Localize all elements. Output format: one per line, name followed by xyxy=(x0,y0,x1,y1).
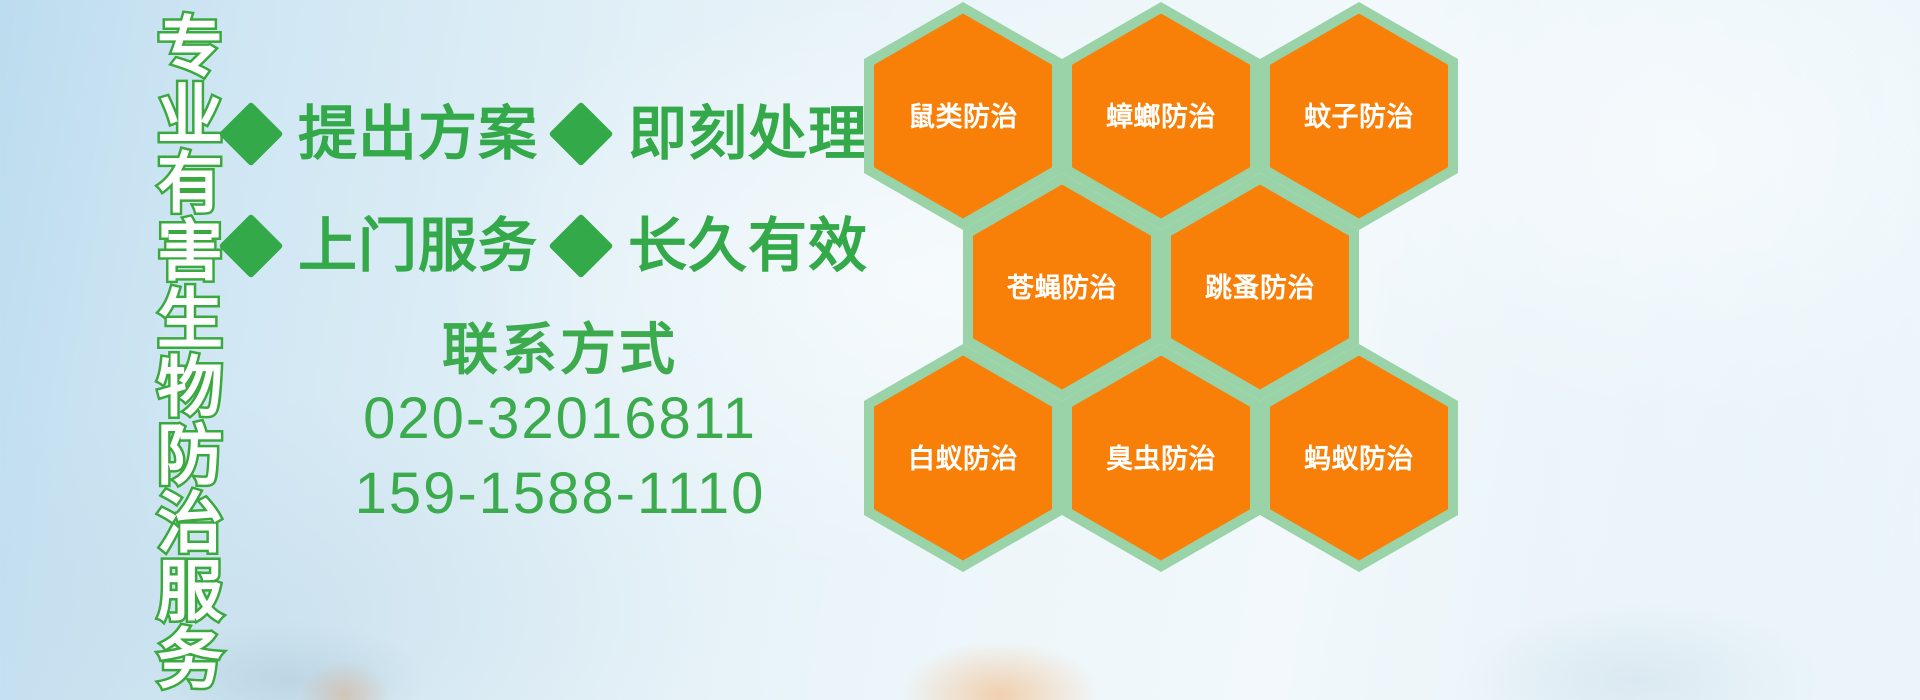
feature-label: 上门服务 xyxy=(298,217,538,276)
diamond-icon xyxy=(218,213,283,278)
feature-item-onsite-service: 上门服务 xyxy=(228,217,558,276)
feature-item-propose-plan: 提出方案 xyxy=(228,105,558,164)
diamond-icon xyxy=(548,213,613,278)
contact-title: 联系方式 xyxy=(300,318,820,382)
hex-label: 臭虫防治 xyxy=(1106,446,1216,473)
contact-phone-mobile[interactable]: 159-1588-1110 xyxy=(300,457,820,531)
hex-inner: 苍蝇防治 xyxy=(973,185,1151,390)
background-blob-orange xyxy=(900,640,1100,700)
vertical-headline: 专业有害生物防治服务 xyxy=(108,12,218,572)
hex-label: 蚊子防治 xyxy=(1304,104,1414,131)
feature-row: 上门服务 长久有效 xyxy=(228,190,868,302)
background-blob-right xyxy=(1460,600,1820,700)
hex-inner: 臭虫防治 xyxy=(1072,356,1250,561)
hex-inner: 蟑螂防治 xyxy=(1072,14,1250,219)
diamond-icon xyxy=(548,101,613,166)
hex-label: 苍蝇防治 xyxy=(1007,275,1117,302)
hex-label: 蚂蚁防治 xyxy=(1304,446,1414,473)
service-honeycomb: 鼠类防治 蟑螂防治 蚊子防治 苍蝇防治 跳蚤防治 白蚁防治 臭虫防治 蚂蚁防治 xyxy=(858,0,1478,552)
hex-inner: 跳蚤防治 xyxy=(1171,185,1349,390)
hex-label: 蟑螂防治 xyxy=(1106,104,1216,131)
hex-label: 白蚁防治 xyxy=(908,446,1018,473)
contact-phone-landline[interactable]: 020-32016811 xyxy=(300,382,820,456)
hex-label: 鼠类防治 xyxy=(908,104,1018,131)
feature-label: 长久有效 xyxy=(628,217,868,276)
background-highlight-right xyxy=(1500,0,1920,700)
feature-label: 即刻处理 xyxy=(628,105,868,164)
feature-row: 提出方案 即刻处理 xyxy=(228,78,868,190)
hex-inner: 蚂蚁防治 xyxy=(1270,356,1448,561)
hex-inner: 鼠类防治 xyxy=(874,14,1052,219)
feature-item-immediate-handling: 即刻处理 xyxy=(558,105,868,164)
diamond-icon xyxy=(218,101,283,166)
hex-inner: 蚊子防治 xyxy=(1270,14,1448,219)
feature-list: 提出方案 即刻处理 上门服务 长久有效 xyxy=(228,78,868,302)
hex-inner: 白蚁防治 xyxy=(874,356,1052,561)
contact-block: 联系方式 020-32016811 159-1588-1110 xyxy=(300,318,820,531)
feature-label: 提出方案 xyxy=(298,105,538,164)
feature-item-long-lasting: 长久有效 xyxy=(558,217,868,276)
background-blob-orange-small xyxy=(300,660,390,700)
hex-label: 跳蚤防治 xyxy=(1205,275,1315,302)
